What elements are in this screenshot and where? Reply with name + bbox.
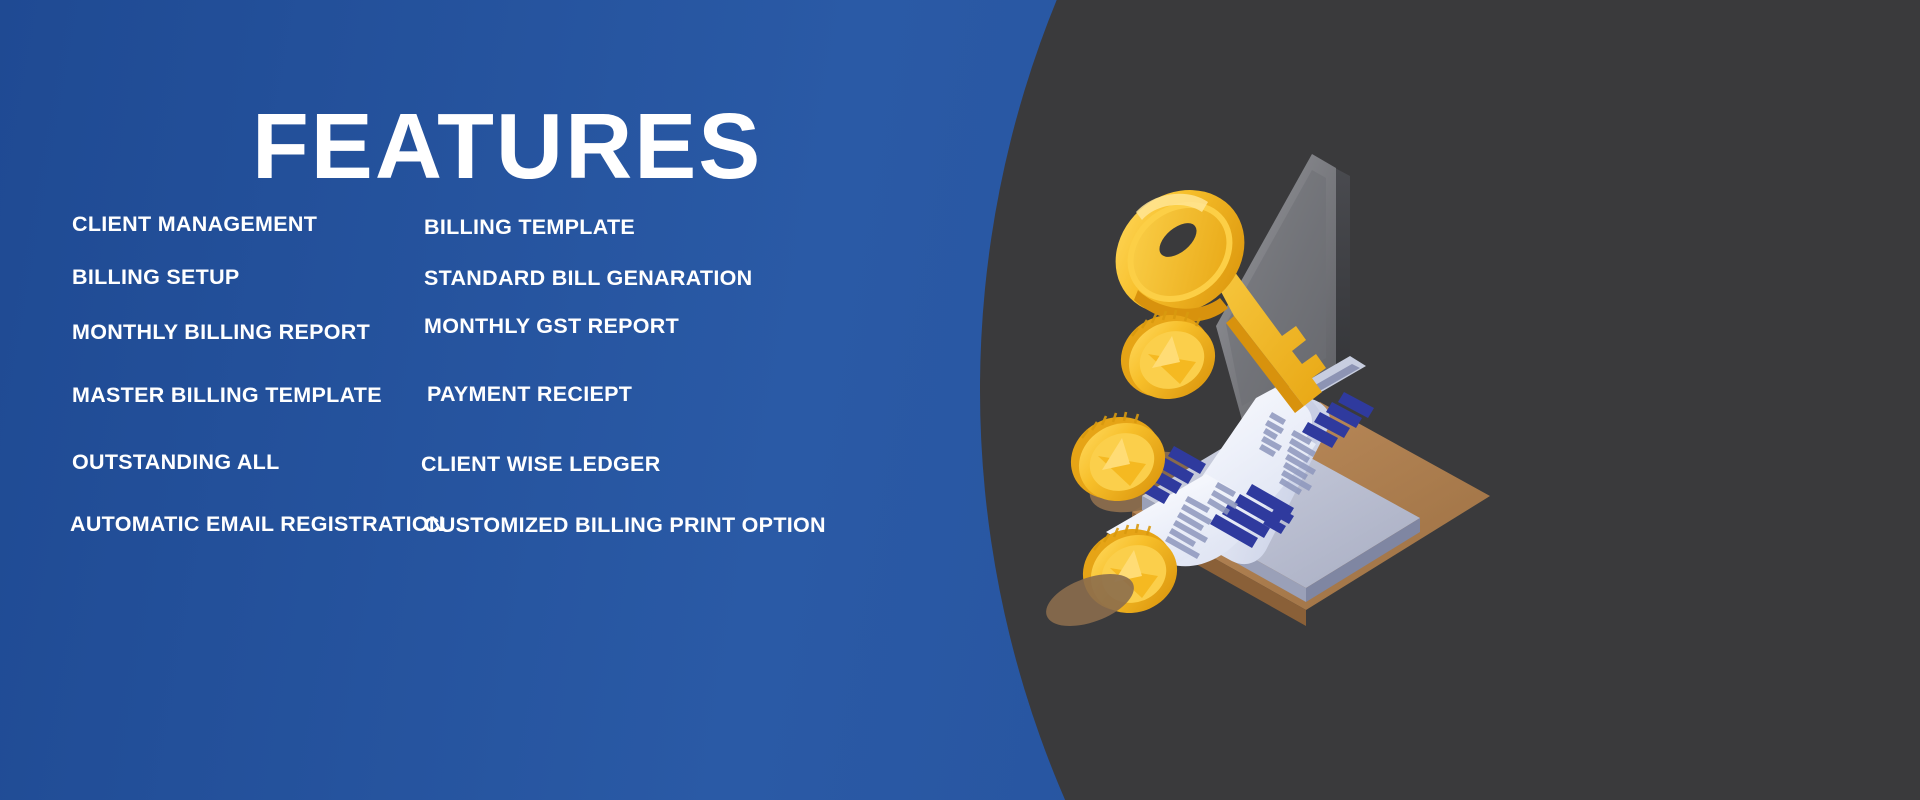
features-content: FEATURES CLIENT MANAGEMENT BILLING SETUP…	[0, 0, 1060, 800]
feature-monthly-gst-report: MONTHLY GST REPORT	[424, 314, 679, 339]
illustration-laptop-invoice	[1020, 140, 1540, 660]
feature-billing-template: BILLING TEMPLATE	[424, 215, 635, 240]
slide-canvas: FEATURES CLIENT MANAGEMENT BILLING SETUP…	[0, 0, 1920, 800]
feature-master-billing-template: MASTER BILLING TEMPLATE	[72, 383, 382, 408]
feature-payment-reciept: PAYMENT RECIEPT	[427, 382, 632, 407]
feature-client-wise-ledger: CLIENT WISE LEDGER	[421, 452, 661, 477]
feature-customized-billing-print-option: CUSTOMIZED BILLING PRINT OPTION	[424, 513, 826, 538]
feature-outstanding-all: OUTSTANDING ALL	[72, 450, 280, 475]
feature-automatic-email-registration: AUTOMATIC EMAIL REGISTRATION	[70, 512, 445, 537]
feature-billing-setup: BILLING SETUP	[72, 265, 240, 290]
feature-standard-bill-generation: STANDARD BILL GENARATION	[424, 266, 753, 291]
feature-client-management: CLIENT MANAGEMENT	[72, 212, 317, 237]
page-title: FEATURES	[252, 100, 762, 193]
feature-monthly-billing-report: MONTHLY BILLING REPORT	[72, 320, 370, 345]
